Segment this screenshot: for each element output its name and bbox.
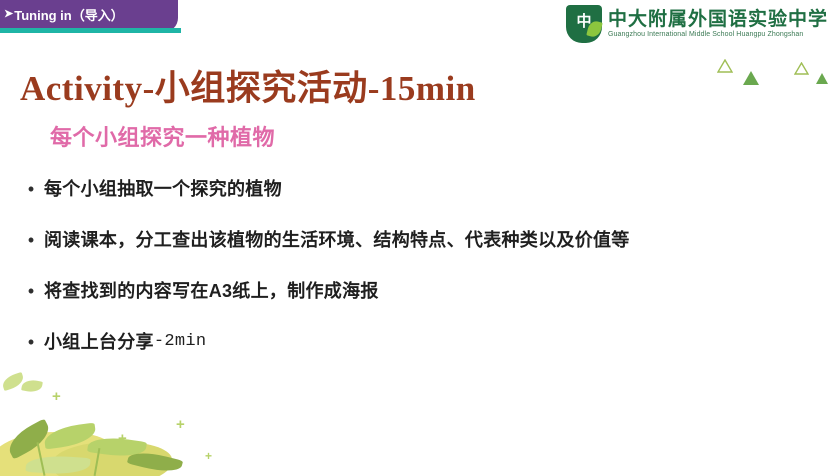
- sparkle-icon: +: [176, 417, 185, 432]
- page-title: Activity-小组探究活动-15min: [20, 60, 476, 111]
- bullet-dot-icon: •: [18, 331, 44, 353]
- leaf-icon: [25, 454, 90, 476]
- list-item: • 小组上台分享 -2min: [18, 331, 808, 355]
- sparkle-icon: +: [52, 389, 61, 404]
- foliage-blob: [0, 432, 120, 476]
- bullet-dot-icon: •: [18, 178, 44, 200]
- leaf-icon: [4, 418, 55, 459]
- section-banner-content: ➤ Tuning in（导入）: [0, 0, 178, 28]
- school-name-en: Guangzhou International Middle School Hu…: [608, 31, 828, 38]
- teal-accent-bar: [0, 28, 181, 33]
- stem-line: [36, 442, 45, 476]
- shield-icon: 中: [566, 5, 602, 43]
- school-name-cn: 中大附属外国语实验中学: [608, 10, 828, 30]
- list-item-label: 阅读课本，分工查出该植物的生活环境、结构特点、代表种类以及价值等: [44, 229, 630, 251]
- list-item: • 每个小组抽取一个探究的植物: [18, 178, 808, 202]
- section-banner-label: Tuning in（导入）: [14, 5, 124, 24]
- stem-line: [94, 448, 101, 476]
- bullet-dot-icon: •: [18, 280, 44, 302]
- sparkle-icon: +: [118, 431, 127, 446]
- arrow-bullet-icon: ➤: [4, 9, 13, 20]
- leaf-icon: [127, 448, 183, 476]
- leaf-icon: [87, 434, 147, 460]
- bullet-list: • 每个小组抽取一个探究的植物 • 阅读课本，分工查出该植物的生活环境、结构特点…: [18, 178, 808, 382]
- page-subtitle: 每个小组探究一种植物: [50, 120, 275, 152]
- sparkle-icon: +: [205, 450, 212, 462]
- triangle-outline-icon-1: [718, 60, 732, 72]
- leaf-icon: [43, 422, 97, 449]
- slide-canvas: ➤ Tuning in（导入） 中 中大附属外国语实验中学 Guangzhou …: [0, 0, 828, 476]
- list-item: • 阅读课本，分工查出该植物的生活环境、结构特点、代表种类以及价值等: [18, 229, 808, 253]
- list-item-label: 每个小组抽取一个探究的植物: [44, 178, 282, 200]
- foliage-blob: [52, 442, 172, 476]
- bullet-dot-icon: •: [18, 229, 44, 251]
- school-logo: 中 中大附属外国语实验中学 Guangzhou International Mi…: [566, 4, 828, 44]
- school-name-block: 中大附属外国语实验中学 Guangzhou International Midd…: [608, 10, 828, 38]
- list-item-label: 小组上台分享: [44, 331, 154, 353]
- list-item-suffix: -2min: [154, 331, 207, 353]
- list-item-label: 将查找到的内容写在A3纸上，制作成海报: [44, 280, 379, 302]
- list-item: • 将查找到的内容写在A3纸上，制作成海报: [18, 280, 808, 304]
